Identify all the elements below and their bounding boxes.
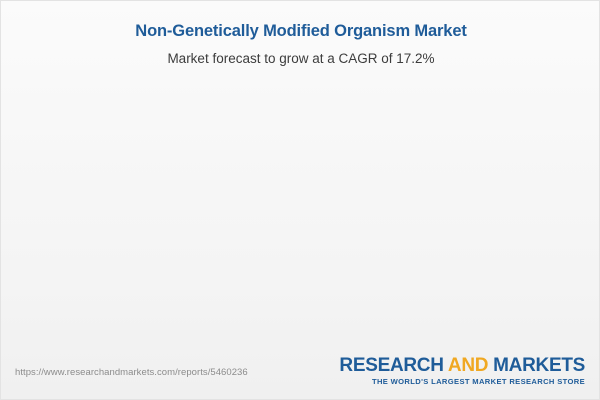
research-and-markets-logo[interactable]: RESEARCH AND MARKETS THE WORLD'S LARGEST… [339, 355, 585, 386]
logo-text-research: RESEARCH [339, 355, 448, 376]
logo-text-markets: MARKETS [488, 355, 585, 376]
logo-text-and: AND [448, 355, 488, 376]
report-url-link[interactable]: https://www.researchandmarkets.com/repor… [15, 367, 248, 378]
logo-tagline: THE WORLD'S LARGEST MARKET RESEARCH STOR… [339, 377, 585, 386]
chart-plot-area: USD 2.42 Billion 2024 USD 6.29 Billion [1, 1, 600, 346]
logo-wordmark: RESEARCH AND MARKETS [339, 355, 585, 376]
footer: https://www.researchandmarkets.com/repor… [1, 345, 600, 399]
infographic-canvas: Non-Genetically Modified Organism Market… [0, 0, 600, 400]
